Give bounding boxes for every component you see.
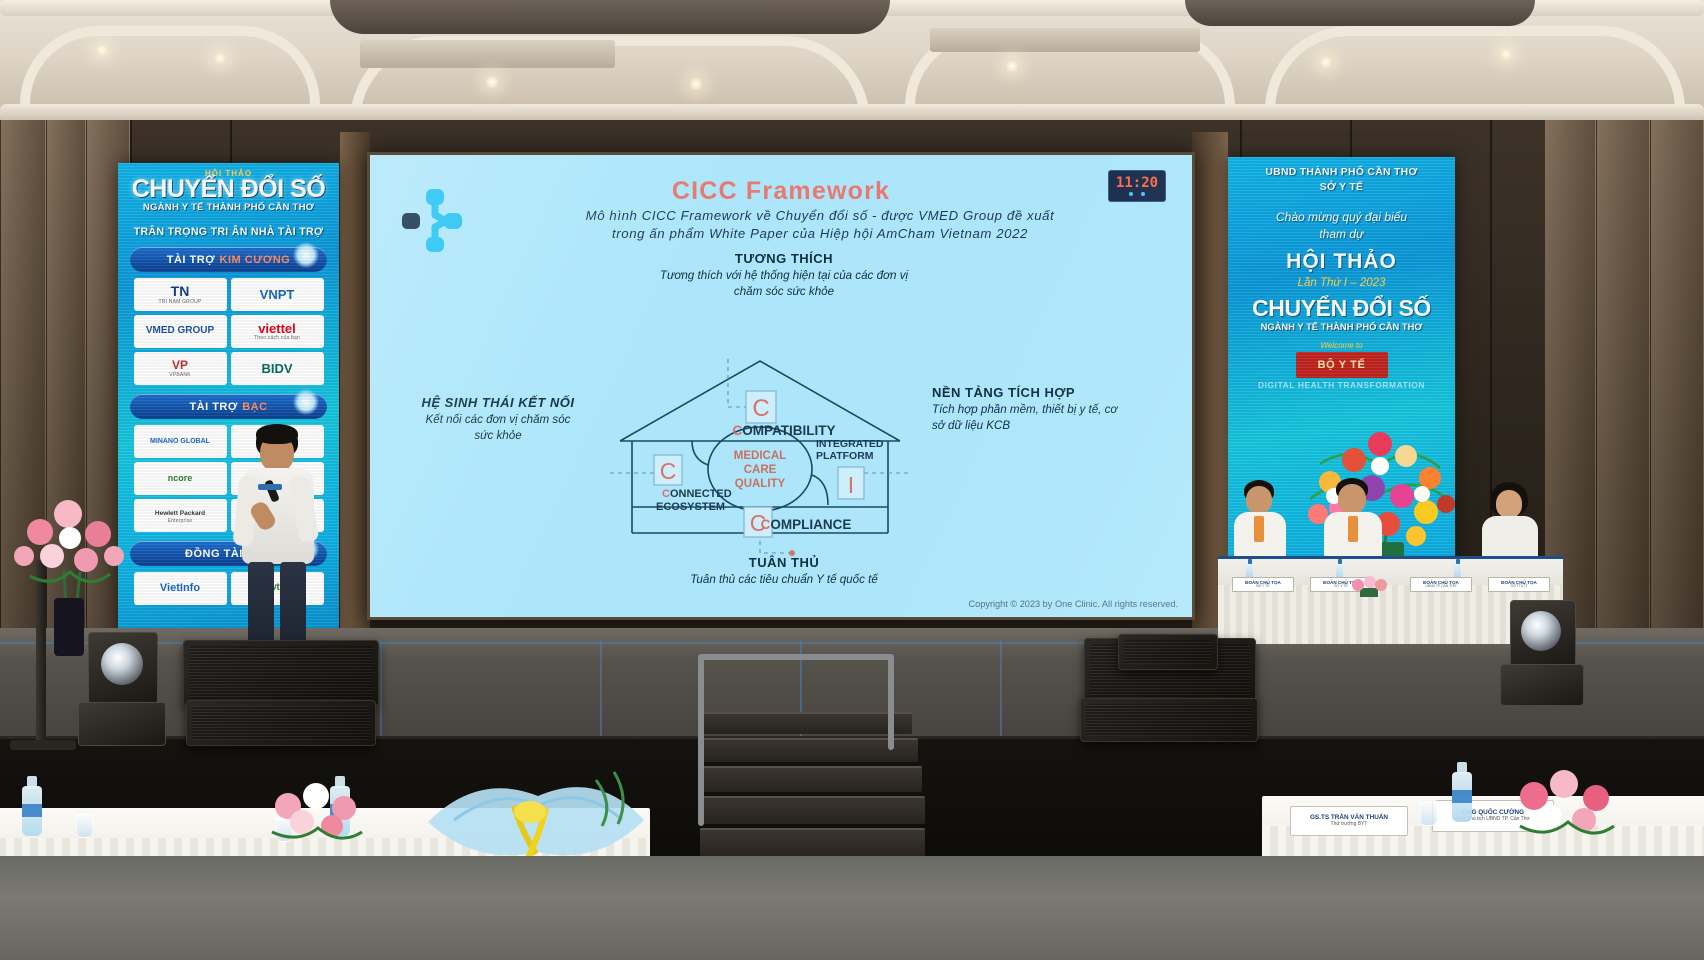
banner-left-thanks: TRÂN TRỌNG TRI ÂN NHÀ TÀI TRỢ: [118, 226, 339, 238]
banner-right-english-line2: DIGITAL HEALTH TRANSFORMATION: [1228, 380, 1455, 390]
wrapped-bouquet: [418, 762, 658, 870]
table-flower-vase: [1508, 766, 1628, 856]
tier-diamond: TÀI TRỢ KIM CƯƠNG: [130, 247, 327, 272]
annotation-bottom-body-line1: Tuân thủ các tiêu chuẩn Y tế quốc tế: [598, 572, 970, 588]
annotation-left-body-line1: Kết nối các đơn vị chăm sóc: [390, 412, 606, 428]
water-bottle: [1452, 772, 1472, 822]
moving-head-light-base: [78, 702, 166, 746]
water-bottle: [22, 786, 42, 836]
table-flower-pot: [1346, 575, 1392, 597]
banner-right-welcome-en: Welcome to: [1228, 341, 1455, 350]
annotation-right-body-line2: sở dữ liệu KCB: [932, 418, 1182, 434]
annotation-left-body-line2: sức khỏe: [390, 428, 606, 444]
moving-head-light-base: [1500, 664, 1584, 706]
sparkle-icon: [293, 242, 319, 268]
sparkle-icon: [293, 389, 319, 415]
stage-steps: [700, 712, 925, 867]
slide-title: CICC Framework: [370, 177, 1192, 206]
banner-right-big-title: CHUYỂN ĐỔI SỐ: [1228, 297, 1455, 320]
drinking-glass: [76, 812, 93, 838]
svg-text:MEDICAL: MEDICAL: [734, 450, 786, 462]
floor-carpet: [0, 856, 1704, 960]
annotation-right-heading: NỀN TẢNG TÍCH HỢP: [932, 385, 1182, 400]
tier-silver-label-a: TÀI TRỢ: [189, 401, 237, 413]
stage-monitor-speaker: [1118, 634, 1218, 670]
sponsor-logo: ncore: [134, 462, 227, 495]
annotation-left-heading: HỆ SINH THÁI KẾT NỐI: [390, 395, 606, 410]
sponsor-logo: BIDV: [231, 352, 324, 385]
banner-right-gov-line1: UBND THÀNH PHỐ CẦN THƠ: [1228, 165, 1455, 180]
slide-subtitle: Mô hình CICC Framework về Chuyển đổi số …: [488, 207, 1152, 243]
stage-monitor-speaker: [183, 640, 379, 706]
foreground-nameplate-line2: Thứ trưởng BYT: [1331, 822, 1368, 828]
banner-right-gov-line2: SỞ Y TẾ: [1228, 180, 1455, 195]
banner-right-welcome-line1: Chào mừng quý đại biểu: [1228, 209, 1455, 226]
annotation-top-body-line2: chăm sóc sức khỏe: [600, 284, 968, 300]
banner-right-small-title: NGÀNH Y TẾ THÀNH PHỐ CẦN THƠ: [1228, 321, 1455, 332]
table-flower-vase: [258, 780, 378, 862]
foreground-nameplate: GS.TS TRẦN VĂN THUẤN Thứ trưởng BYT: [1290, 806, 1408, 836]
tier-silver-label-b: BẠC: [242, 401, 267, 413]
presenter: [232, 424, 332, 654]
banner-right-event: HỘI THẢO: [1228, 250, 1455, 274]
conference-hall-scene: HỘI THẢO CHUYỂN ĐỔI SỐ NGÀNH Y TẾ THÀNH …: [0, 0, 1704, 960]
tier-diamond-label-b: KIM CƯƠNG: [220, 254, 291, 266]
diamond-sponsor-logos: TNTRI NAM GROUP VNPT VMED GROUP viettelT…: [118, 278, 339, 385]
banner-right-welcome-line2: tham dự: [1228, 226, 1455, 243]
svg-text:CONNECTED: CONNECTED: [662, 488, 732, 500]
panel-nameplate-sub: BỘ Y TẾ: [1256, 585, 1269, 589]
panel-nameplate: ĐOÀN CHỦ TỌA BỘ Y TẾ: [1232, 577, 1294, 592]
banner-right-edition: Lần Thứ I – 2023: [1228, 277, 1455, 289]
slide-cicc-framework: 11:20 CICC Framework Mô hình CICC Framew…: [370, 155, 1192, 617]
moving-head-light: [1510, 600, 1576, 668]
decor-flower-vase-left: [6, 480, 136, 660]
svg-text:C: C: [660, 458, 677, 484]
slide-subtitle-line2: trong ấn phẩm White Paper của Hiệp hội A…: [488, 225, 1152, 243]
annotation-top: TƯƠNG THÍCH Tương thích với hệ thống hiệ…: [600, 251, 968, 301]
panel-nameplate: ĐOÀN CHỦ TỌA UBND TP CẦN THƠ: [1410, 577, 1472, 592]
sponsor-logo: TNTRI NAM GROUP: [134, 278, 227, 311]
light-stand-foot: [10, 740, 76, 750]
svg-text:CARE: CARE: [744, 464, 777, 476]
panel-member-2: [1322, 478, 1386, 562]
drinking-glass: [1420, 800, 1437, 826]
svg-text:I: I: [848, 472, 854, 498]
projection-screen: 11:20 CICC Framework Mô hình CICC Framew…: [367, 152, 1195, 620]
sponsor-logo: VNPT: [231, 278, 324, 311]
svg-text:COMPLIANCE: COMPLIANCE: [761, 517, 852, 532]
annotation-right: NỀN TẢNG TÍCH HỢP Tích hợp phần mềm, thi…: [932, 385, 1182, 435]
sponsor-logo: MINANO GLOBAL: [134, 425, 227, 458]
svg-text:C: C: [752, 395, 769, 422]
banner-left-subtitle: NGÀNH Y TẾ THÀNH PHỐ CẦN THƠ: [118, 202, 339, 213]
annotation-top-heading: TƯƠNG THÍCH: [600, 251, 968, 266]
sponsor-logo: VPVPBANK: [134, 352, 227, 385]
panel-nameplate: ĐOÀN CHỦ TỌA SỞ TT&TT: [1488, 577, 1550, 592]
banner-left-title: CHUYỂN ĐỔI SỐ: [118, 177, 339, 201]
panel-nameplate-sub: SỞ TT&TT: [1511, 585, 1528, 589]
svg-text:QUALITY: QUALITY: [735, 478, 786, 490]
svg-text:PLATFORM: PLATFORM: [816, 450, 874, 462]
svg-text:INTEGRATED: INTEGRATED: [816, 438, 884, 450]
sponsor-logo: VMED GROUP: [134, 315, 227, 348]
svg-text:COMPATIBILITY: COMPATIBILITY: [733, 423, 836, 438]
panel-member-3: [1480, 482, 1542, 564]
tier-silver: TÀI TRỢ BẠC: [130, 394, 327, 419]
panel-nameplate-sub: UBND TP CẦN THƠ: [1425, 585, 1456, 589]
sponsor-logo: viettelTheo cách của bạn: [231, 315, 324, 348]
sponsor-logo: VietInfo: [134, 572, 227, 605]
svg-text:ECOSYSTEM: ECOSYSTEM: [656, 501, 725, 513]
annotation-top-body-line1: Tương thích với hệ thống hiện tại của cá…: [600, 268, 968, 284]
slide-subtitle-line1: Mô hình CICC Framework về Chuyển đổi số …: [488, 207, 1152, 225]
ministry-of-health-logo: BỘ Y TẾ: [1318, 359, 1366, 371]
annotation-left: HỆ SINH THÁI KẾT NỐI Kết nối các đơn vị …: [390, 395, 606, 445]
wood-column-left: [340, 132, 370, 652]
slide-copyright: Copyright © 2023 by One Clinic. All righ…: [969, 599, 1179, 609]
stage-monitor-speaker: [186, 700, 376, 746]
tier-diamond-label-a: TÀI TRỢ: [167, 254, 215, 266]
cicc-house-diagram: C C I C COMPATIBILITY CONNECTED ECOSYSTE…: [610, 355, 910, 565]
panel-member-1: [1232, 480, 1292, 560]
annotation-right-body-line1: Tích hợp phần mềm, thiết bị y tế, cơ: [932, 402, 1182, 418]
sponsor-logo: Hewlett PackardEnterprise: [134, 499, 227, 532]
stage-monitor-speaker: [1080, 698, 1258, 742]
